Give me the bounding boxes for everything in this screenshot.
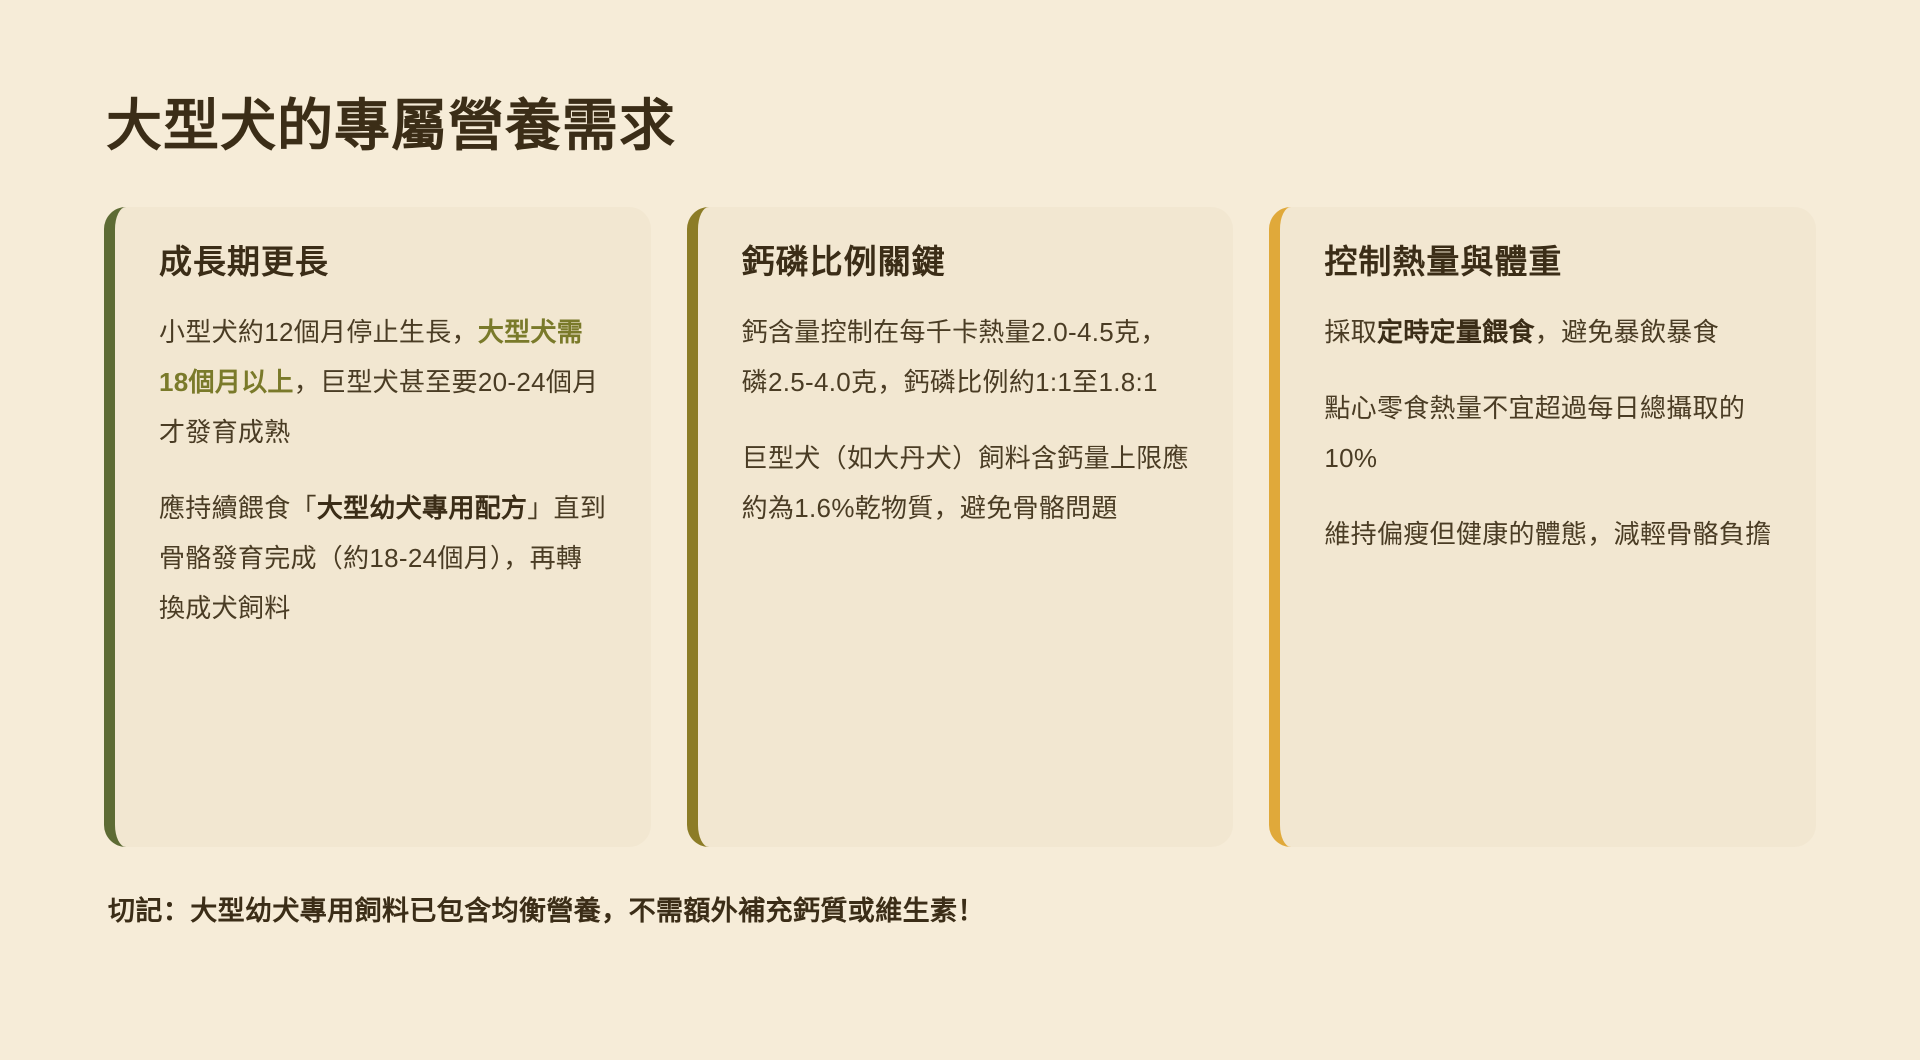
text-segment: 小型犬約12個月停止生長， — [159, 317, 478, 347]
card-paragraph: 應持續餵食「大型幼犬專用配方」直到骨骼發育完成（約18-24個月），再轉換成犬飼… — [159, 484, 607, 634]
card-paragraph: 巨型犬（如大丹犬）飼料含鈣量上限應約為1.6%乾物質，避免骨骼問題 — [742, 434, 1190, 534]
card-calcium-phosphorus-ratio: 鈣磷比例關鍵 鈣含量控制在每千卡熱量2.0-4.5克，磷2.5-4.0克，鈣磷比… — [687, 207, 1234, 847]
card-row: 成長期更長 小型犬約12個月停止生長，大型犬需18個月以上，巨型犬甚至要20-2… — [104, 207, 1816, 847]
card-title: 鈣磷比例關鍵 — [742, 241, 1190, 282]
card-paragraph: 鈣含量控制在每千卡熱量2.0-4.5克，磷2.5-4.0克，鈣磷比例約1:1至1… — [742, 308, 1190, 408]
text-segment: 應持續餵食「 — [159, 493, 317, 523]
infographic-page: 大型犬的專屬營養需求 成長期更長 小型犬約12個月停止生長，大型犬需18個月以上… — [0, 0, 1920, 1060]
card-paragraph: 小型犬約12個月停止生長，大型犬需18個月以上，巨型犬甚至要20-24個月才發育… — [159, 308, 607, 458]
card-paragraph: 點心零食熱量不宜超過每日總攝取的10% — [1324, 384, 1772, 484]
card-title: 成長期更長 — [159, 241, 607, 282]
card-paragraph: 維持偏瘦但健康的體態，減輕骨骼負擔 — [1324, 510, 1772, 560]
text-segment: ，避免暴飲暴食 — [1535, 317, 1719, 347]
text-segment: 鈣含量控制在每千卡熱量2.0-4.5克，磷2.5-4.0克，鈣磷比例約1:1至1… — [742, 317, 1167, 397]
card-calorie-weight-control: 控制熱量與體重 採取定時定量餵食，避免暴飲暴食 點心零食熱量不宜超過每日總攝取的… — [1269, 207, 1816, 847]
card-paragraph: 採取定時定量餵食，避免暴飲暴食 — [1324, 308, 1772, 358]
card-growth-period: 成長期更長 小型犬約12個月停止生長，大型犬需18個月以上，巨型犬甚至要20-2… — [104, 207, 651, 847]
text-segment: 巨型犬（如大丹犬）飼料含鈣量上限應約為1.6%乾物質，避免骨骼問題 — [742, 443, 1189, 523]
card-title: 控制熱量與體重 — [1324, 241, 1772, 282]
text-segment: 維持偏瘦但健康的體態，減輕骨骼負擔 — [1324, 519, 1771, 549]
emphasized-text: 大型幼犬專用配方 — [317, 493, 527, 523]
page-title: 大型犬的專屬營養需求 — [106, 92, 1816, 159]
text-segment: 採取 — [1324, 317, 1377, 347]
footnote-reminder: 切記：大型幼犬專用飼料已包含均衡營養，不需額外補充鈣質或維生素！ — [108, 889, 1816, 928]
emphasized-text: 定時定量餵食 — [1377, 317, 1535, 347]
text-segment: 點心零食熱量不宜超過每日總攝取的10% — [1324, 393, 1745, 473]
